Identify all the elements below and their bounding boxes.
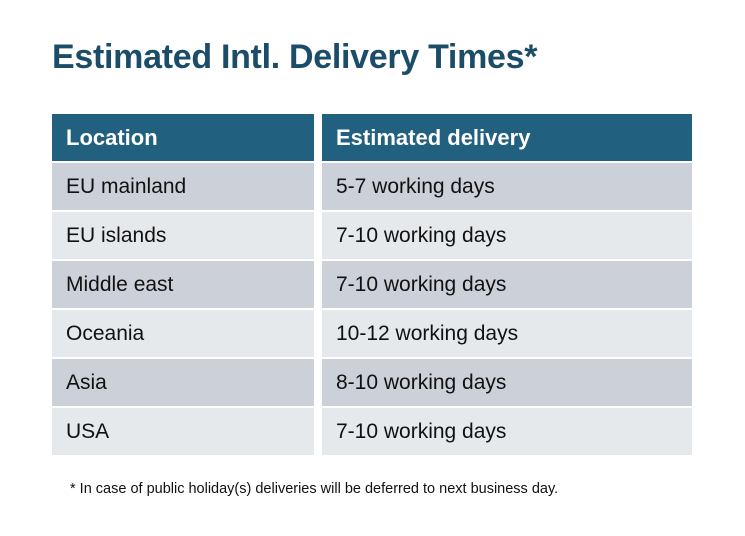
cell-estimated-delivery: 7-10 working days bbox=[322, 212, 692, 259]
table-row: Middle east 7-10 working days bbox=[52, 261, 692, 308]
cell-location: EU mainland bbox=[52, 163, 314, 210]
cell-estimated-delivery: 7-10 working days bbox=[322, 261, 692, 308]
table-row: Asia 8-10 working days bbox=[52, 359, 692, 406]
cell-location: Oceania bbox=[52, 310, 314, 357]
footnote-text: * In case of public holiday(s) deliverie… bbox=[70, 479, 558, 499]
column-divider bbox=[314, 359, 322, 406]
cell-location: Middle east bbox=[52, 261, 314, 308]
table-row: USA 7-10 working days bbox=[52, 408, 692, 455]
delivery-times-page: Estimated Intl. Delivery Times* Location… bbox=[0, 0, 745, 536]
column-divider bbox=[314, 114, 322, 161]
page-title: Estimated Intl. Delivery Times* bbox=[52, 36, 537, 78]
column-divider bbox=[314, 310, 322, 357]
cell-estimated-delivery: 7-10 working days bbox=[322, 408, 692, 455]
table-row: Oceania 10-12 working days bbox=[52, 310, 692, 357]
column-divider bbox=[314, 163, 322, 210]
cell-location: USA bbox=[52, 408, 314, 455]
cell-location: Asia bbox=[52, 359, 314, 406]
cell-estimated-delivery: 10-12 working days bbox=[322, 310, 692, 357]
column-header-estimated-delivery: Estimated delivery bbox=[322, 114, 692, 161]
column-header-location: Location bbox=[52, 114, 314, 161]
cell-location: EU islands bbox=[52, 212, 314, 259]
table-row: EU mainland 5-7 working days bbox=[52, 163, 692, 210]
column-divider bbox=[314, 261, 322, 308]
table-header-row: Location Estimated delivery bbox=[52, 114, 692, 161]
cell-estimated-delivery: 5-7 working days bbox=[322, 163, 692, 210]
cell-estimated-delivery: 8-10 working days bbox=[322, 359, 692, 406]
column-divider bbox=[314, 408, 322, 455]
table-row: EU islands 7-10 working days bbox=[52, 212, 692, 259]
delivery-times-table: Location Estimated delivery EU mainland … bbox=[52, 114, 692, 455]
column-divider bbox=[314, 212, 322, 259]
